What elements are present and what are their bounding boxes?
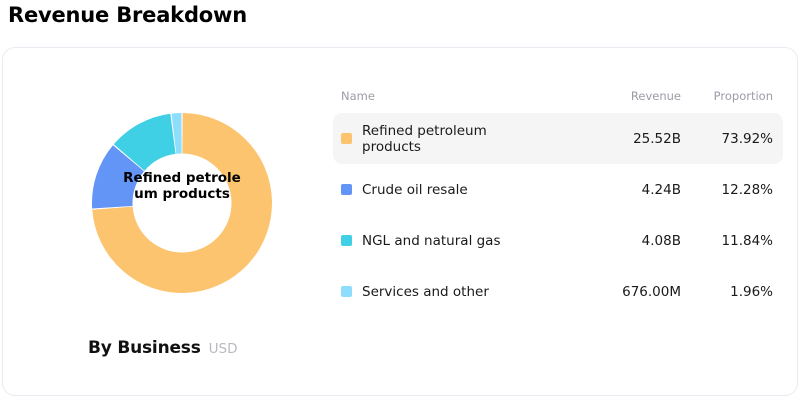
legend-row-proportion: 12.28% [681,182,773,198]
legend-row-revenue: 676.00M [589,284,681,300]
legend-row[interactable]: Services and other676.00M1.96% [333,266,783,317]
legend-row[interactable]: Refined petroleum products25.52B73.92% [333,113,783,164]
legend-row-label: Services and other [362,284,489,300]
legend-table-header-row: Name Revenue Proportion [333,83,783,109]
donut-svg [92,113,272,293]
legend-color-swatch-icon [341,286,352,297]
legend-row-name-cell: Services and other [341,284,589,300]
legend-color-swatch-icon [341,235,352,246]
column-header-proportion: Proportion [681,89,773,103]
legend-row-label: NGL and natural gas [362,233,500,249]
legend-row-revenue: 4.24B [589,182,681,198]
legend-row[interactable]: Crude oil resale4.24B12.28% [333,164,783,215]
donut-chart[interactable] [92,113,272,293]
legend-row-proportion: 73.92% [681,131,773,147]
legend-row-name-cell: Refined petroleum products [341,123,589,155]
legend-color-swatch-icon [341,133,352,144]
revenue-breakdown-card: Refined petroleum products By Business U… [2,47,798,396]
donut-footer: By Business USD [88,338,238,358]
legend-table: Name Revenue Proportion Refined petroleu… [333,83,783,317]
legend-color-swatch-icon [341,184,352,195]
column-header-name: Name [341,89,589,103]
legend-row-proportion: 1.96% [681,284,773,300]
legend-row[interactable]: NGL and natural gas4.08B11.84% [333,215,783,266]
donut-footer-title: By Business [88,338,201,358]
legend-row-proportion: 11.84% [681,233,773,249]
legend-row-revenue: 25.52B [589,131,681,147]
column-header-revenue: Revenue [589,89,681,103]
donut-footer-unit: USD [209,341,238,357]
donut-chart-panel: Refined petroleum products By Business U… [3,48,323,397]
legend-row-name-cell: NGL and natural gas [341,233,589,249]
page-title: Revenue Breakdown [8,3,247,27]
legend-row-label: Refined petroleum products [362,123,514,155]
legend-row-name-cell: Crude oil resale [341,182,589,198]
legend-row-label: Crude oil resale [362,182,468,198]
legend-row-revenue: 4.08B [589,233,681,249]
